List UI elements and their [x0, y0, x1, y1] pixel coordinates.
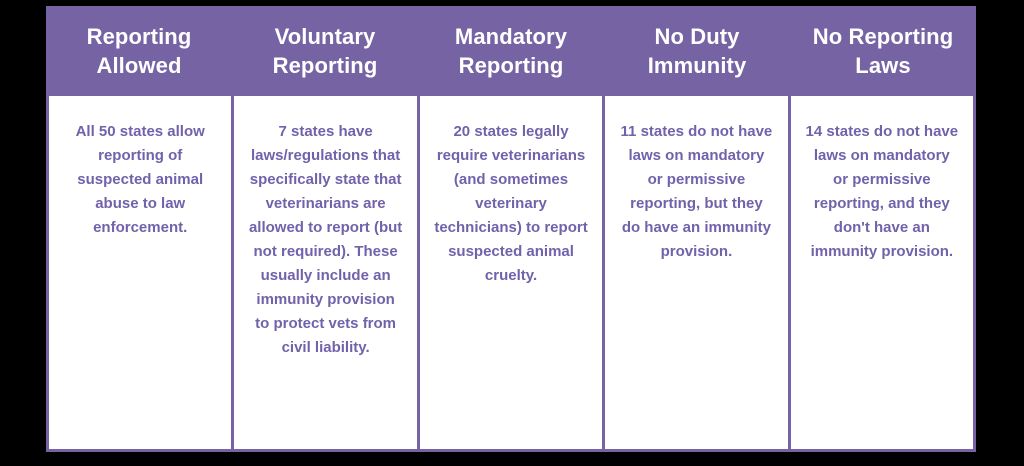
table-header-row: Reporting Allowed Voluntary Reporting Ma…: [46, 6, 976, 96]
table-cell-text: 14 states do not have laws on mandatory …: [805, 120, 959, 264]
table-cell-text: 11 states do not have laws on mandatory …: [619, 120, 773, 264]
table-header-label: Voluntary Reporting: [273, 22, 378, 80]
table-cell-text: All 50 states allow reporting of suspect…: [63, 120, 217, 240]
table-cell-reporting-allowed: All 50 states allow reporting of suspect…: [49, 96, 234, 449]
table-header-cell-voluntary-reporting: Voluntary Reporting: [232, 6, 418, 96]
table-cell-no-duty-immunity: 11 states do not have laws on mandatory …: [605, 96, 790, 449]
table-header-label: Reporting Allowed: [87, 22, 192, 80]
table-header-cell-mandatory-reporting: Mandatory Reporting: [418, 6, 604, 96]
reporting-laws-table: Reporting Allowed Voluntary Reporting Ma…: [46, 6, 976, 452]
table-cell-voluntary-reporting: 7 states have laws/regulations that spec…: [234, 96, 419, 449]
screenshot-canvas: Reporting Allowed Voluntary Reporting Ma…: [0, 0, 1024, 466]
table-body-row: All 50 states allow reporting of suspect…: [46, 96, 976, 452]
table-header-cell-no-reporting-laws: No Reporting Laws: [790, 6, 976, 96]
table-header-cell-no-duty-immunity: No Duty Immunity: [604, 6, 790, 96]
table-header-label: Mandatory Reporting: [455, 22, 567, 80]
table-cell-text: 7 states have laws/regulations that spec…: [248, 120, 402, 360]
table-header-cell-reporting-allowed: Reporting Allowed: [46, 6, 232, 96]
table-cell-mandatory-reporting: 20 states legally require veterinarians …: [420, 96, 605, 449]
table-cell-text: 20 states legally require veterinarians …: [434, 120, 588, 288]
table-header-label: No Reporting Laws: [813, 22, 954, 80]
table-cell-no-reporting-laws: 14 states do not have laws on mandatory …: [791, 96, 973, 449]
table-header-label: No Duty Immunity: [648, 22, 747, 80]
